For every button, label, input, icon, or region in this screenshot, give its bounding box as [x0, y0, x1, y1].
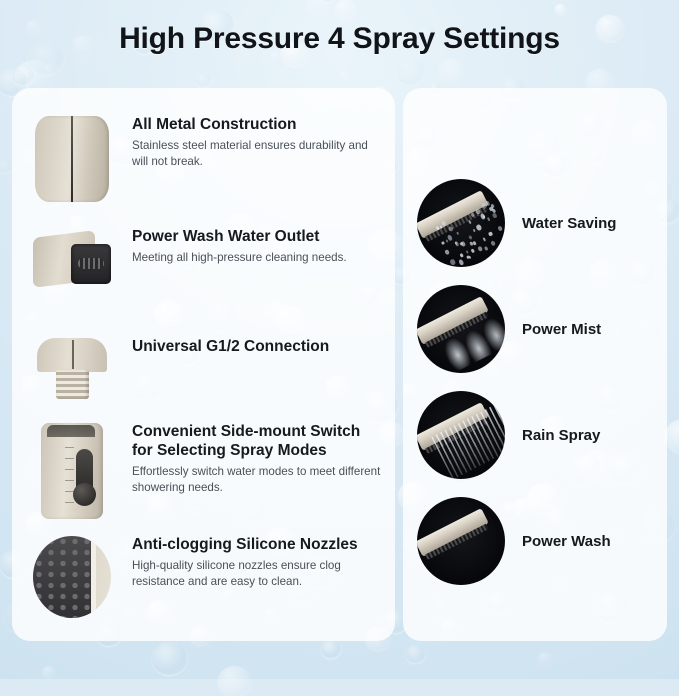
feature-body: Meeting all high-pressure cleaning needs…: [132, 250, 381, 266]
feature-row: Anti-clogging Silicone Nozzles High-qual…: [12, 536, 395, 618]
feature-heading: Power Wash Water Outlet: [132, 228, 381, 247]
spray-mode-label: Power Mist: [522, 321, 601, 338]
feature-heading: Convenient Side-mount Switch for Selecti…: [132, 423, 381, 461]
spray-rain-image: [417, 391, 505, 479]
feature-body: High-quality silicone nozzles ensure clo…: [132, 558, 381, 591]
spray-mode-label: Rain Spray: [522, 427, 600, 444]
water-outlet-image: [12, 228, 132, 290]
features-card: All Metal Construction Stainless steel m…: [12, 88, 395, 641]
g-half-connector-image: [12, 338, 132, 408]
spray-mode-row: Power Mist: [403, 281, 667, 377]
feature-heading: All Metal Construction: [132, 116, 381, 135]
feature-body: Stainless steel material ensures durabil…: [132, 138, 381, 171]
spray-mode-label: Power Wash: [522, 533, 611, 550]
silicone-nozzles-image: [12, 536, 132, 618]
spray-droplets-image: [417, 179, 505, 267]
spray-mode-row: Water Saving: [403, 175, 667, 271]
side-mount-switch-image: [12, 423, 132, 519]
spray-mode-row: Power Wash: [403, 493, 667, 589]
feature-body: Effortlessly switch water modes to meet …: [132, 464, 381, 497]
feature-row: Universal G1/2 Connection: [12, 338, 395, 408]
page-title: High Pressure 4 Spray Settings: [0, 22, 679, 56]
feature-row: Power Wash Water Outlet Meeting all high…: [12, 228, 395, 290]
feature-row: Convenient Side-mount Switch for Selecti…: [12, 423, 395, 519]
feature-heading: Universal G1/2 Connection: [132, 338, 381, 357]
spray-modes-card: Water Saving Power Mist Rain Spray Power…: [403, 88, 667, 641]
feature-row: All Metal Construction Stainless steel m…: [12, 116, 395, 202]
spray-mode-label: Water Saving: [522, 215, 616, 232]
spray-mode-row: Rain Spray: [403, 387, 667, 483]
shower-body-image: [12, 116, 132, 202]
feature-heading: Anti-clogging Silicone Nozzles: [132, 536, 381, 555]
spray-jet-image: [417, 497, 505, 585]
spray-mist-image: [417, 285, 505, 373]
